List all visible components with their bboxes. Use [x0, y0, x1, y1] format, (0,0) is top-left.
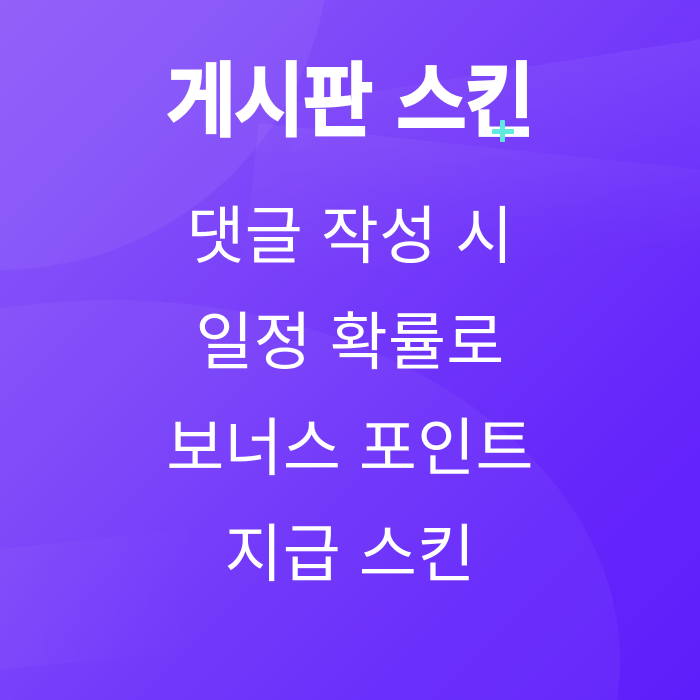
banner-body: 댓글 작성 시 일정 확률로 보너스 포인트 지급 스킨	[166, 184, 533, 608]
body-line-3: 보너스 포인트	[166, 396, 533, 502]
promo-banner: 게시판 스킨 댓글 작성 시 일정 확률로 보너스 포인트 지급 스킨	[0, 0, 700, 700]
body-line-2: 일정 확률로	[195, 290, 504, 396]
headline-wrapper: 게시판 스킨	[155, 62, 545, 142]
banner-headline: 게시판 스킨	[167, 62, 534, 142]
banner-content: 게시판 스킨 댓글 작성 시 일정 확률로 보너스 포인트 지급 스킨	[0, 0, 700, 700]
sparkle-plus-icon	[492, 120, 514, 142]
body-line-4: 지급 스킨	[225, 502, 476, 608]
body-line-1: 댓글 작성 시	[186, 184, 513, 290]
